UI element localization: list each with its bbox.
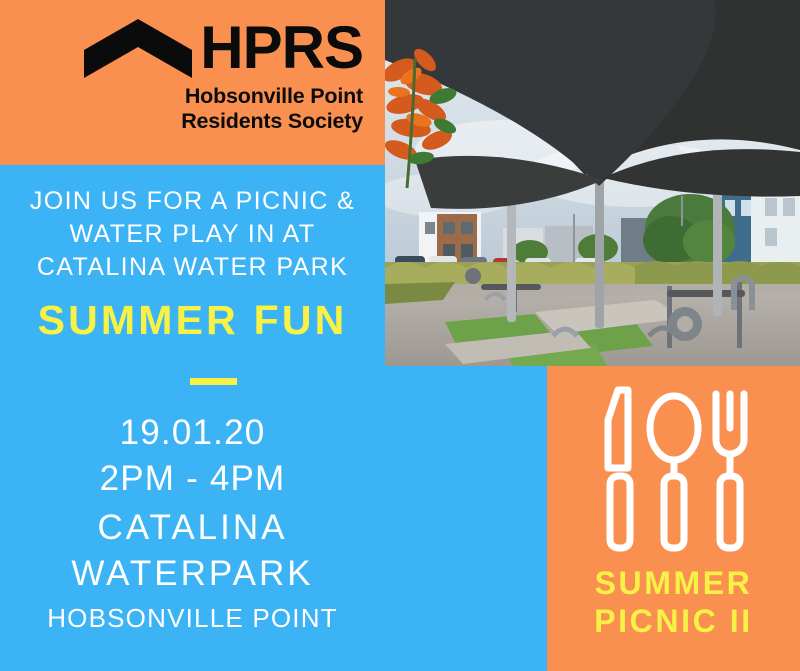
spoon-icon — [650, 396, 698, 548]
organisation-name-line1: Hobsonville Point — [33, 84, 363, 109]
event-details: 19.01.20 2PM - 4PM CATALINA WATERPARK HO… — [0, 410, 385, 636]
knife-icon — [608, 390, 630, 548]
badge-title: SUMMER PICNIC II — [547, 564, 800, 641]
headline: SUMMER FUN — [0, 300, 385, 341]
intro-line-3: CATALINA WATER PARK — [16, 251, 369, 284]
event-date: 19.01.20 — [0, 410, 385, 456]
logo-lockup: HPRS — [0, 13, 385, 83]
event-location: HOBSONVILLE POINT — [0, 602, 385, 636]
venue-photo — [385, 0, 800, 366]
logo-band: HPRS Hobsonville Point Residents Society — [0, 0, 385, 165]
double-chevron-up-icon — [82, 17, 194, 79]
event-time: 2PM - 4PM — [0, 456, 385, 502]
flyer-canvas: HPRS Hobsonville Point Residents Society — [0, 0, 800, 671]
fork-icon — [716, 394, 744, 548]
organisation-name-line2: Residents Society — [33, 109, 363, 134]
event-venue-line2: WATERPARK — [0, 551, 385, 597]
intro-text: JOIN US FOR A PICNIC & WATER PLAY IN AT … — [0, 185, 385, 284]
organisation-name: Hobsonville Point Residents Society — [33, 84, 363, 135]
intro-line-2: WATER PLAY IN AT — [16, 218, 369, 251]
cutlery-icon-group — [547, 384, 800, 554]
divider-rule — [190, 378, 237, 385]
venue-photo-illustration — [385, 0, 800, 366]
intro-line-1: JOIN US FOR A PICNIC & — [16, 185, 369, 218]
summer-picnic-badge: SUMMER PICNIC II — [547, 366, 800, 671]
event-copy-column: JOIN US FOR A PICNIC & WATER PLAY IN AT … — [0, 165, 385, 671]
badge-title-line2: PICNIC II — [547, 602, 800, 640]
cutlery-icons — [594, 384, 754, 554]
logo-wordmark: HPRS — [200, 18, 363, 78]
badge-title-line1: SUMMER — [547, 564, 800, 602]
event-venue-line1: CATALINA — [0, 505, 385, 551]
